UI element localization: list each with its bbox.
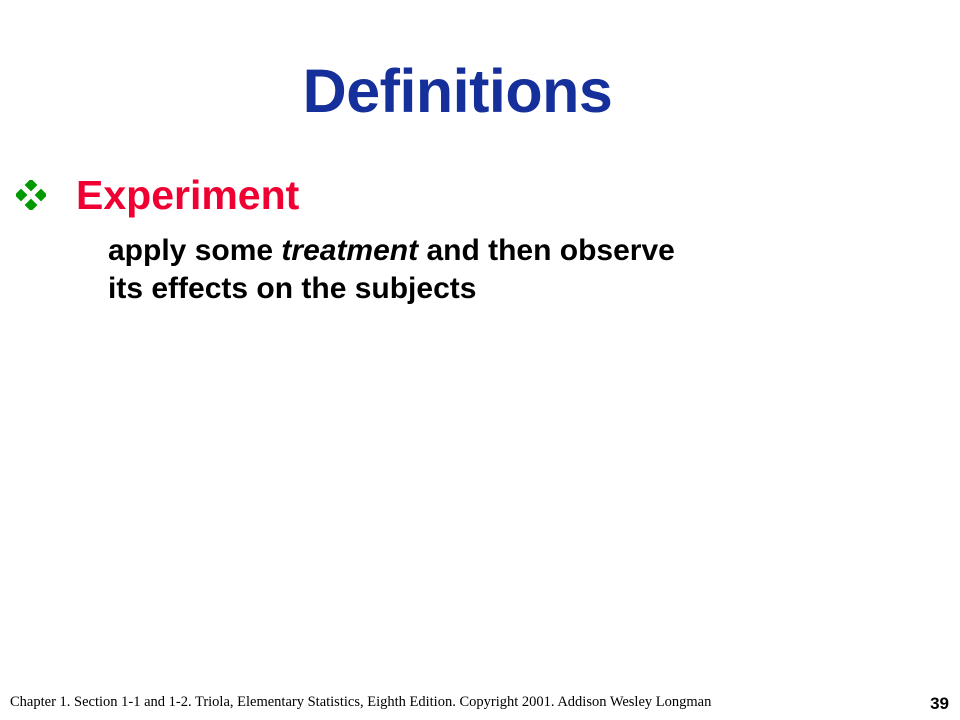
description-emphasis-treatment: treatment <box>281 234 418 267</box>
page-number: 39 <box>930 694 949 714</box>
content-body: Experiment apply some treatment and then… <box>14 172 914 308</box>
diamond-cluster-bullet-icon <box>14 172 48 216</box>
page-title: Definitions <box>0 58 915 124</box>
bullet-item-label: Experiment <box>76 172 299 218</box>
description-text-before: apply some <box>108 234 281 267</box>
bullet-item-experiment: Experiment <box>14 172 914 218</box>
bullet-item-description: apply some treatment and then observe it… <box>108 232 688 308</box>
slide-canvas: Definitions Experiment apply some treatm… <box>0 0 960 720</box>
footer-citation: Chapter 1. Section 1-1 and 1-2. Triola, … <box>10 693 890 711</box>
